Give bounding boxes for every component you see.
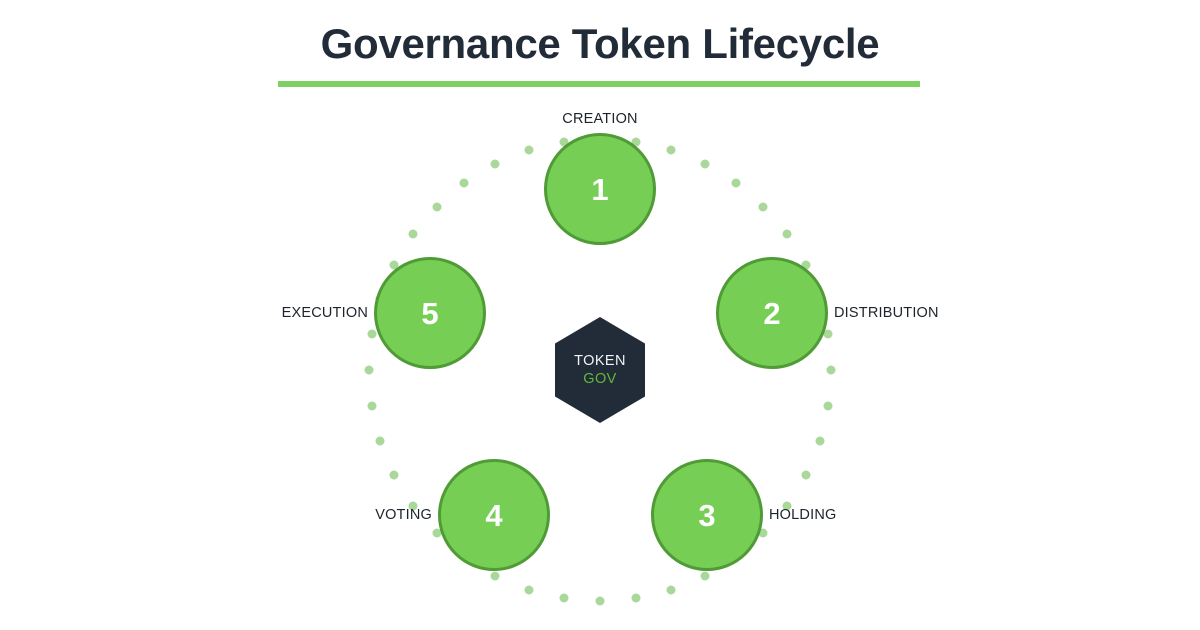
cycle-node-number: 1 — [591, 174, 608, 205]
cycle-node-1[interactable]: 1 — [544, 133, 656, 245]
ring-dot — [376, 437, 385, 446]
ring-dot — [731, 179, 740, 188]
ring-dot — [667, 585, 676, 594]
ring-dot — [367, 329, 376, 338]
cycle-node-label-creation: CREATION — [562, 111, 637, 127]
cycle-node-number: 2 — [763, 298, 780, 329]
ring-dot — [759, 202, 768, 211]
ring-dot — [367, 402, 376, 411]
cycle-node-2[interactable]: 2 — [716, 257, 828, 369]
cycle-node-number: 5 — [421, 298, 438, 329]
ring-dot — [667, 146, 676, 155]
diagram-canvas: Governance Token Lifecycle 1CREATION2DIS… — [0, 0, 1200, 630]
ring-dot — [491, 571, 500, 580]
ring-dot — [491, 160, 500, 169]
cycle-node-number: 3 — [698, 500, 715, 531]
ring-dot — [409, 230, 418, 239]
cycle-node-4[interactable]: 4 — [438, 459, 550, 571]
cycle-node-3[interactable]: 3 — [651, 459, 763, 571]
ring-dot — [824, 402, 833, 411]
ring-dot — [700, 571, 709, 580]
cycle-node-5[interactable]: 5 — [374, 257, 486, 369]
title-block: Governance Token Lifecycle — [0, 18, 1200, 70]
ring-dot — [365, 366, 374, 375]
cycle-node-label-voting: VOTING — [375, 507, 432, 523]
ring-dot — [432, 202, 441, 211]
ring-dot — [700, 160, 709, 169]
cycle-node-number: 4 — [485, 500, 502, 531]
cycle-node-label-distribution: DISTRIBUTION — [834, 305, 939, 321]
ring-dot — [524, 585, 533, 594]
ring-dot — [827, 366, 836, 375]
ring-dot — [460, 179, 469, 188]
ring-dot — [815, 437, 824, 446]
cycle-node-label-execution: EXECUTION — [282, 305, 368, 321]
dotted-ring — [0, 0, 1200, 630]
center-token-hexagon: TOKEN GOV — [555, 317, 645, 423]
hexagon-secondary-label: GOV — [583, 372, 616, 387]
ring-dot — [782, 230, 791, 239]
ring-dot — [596, 597, 605, 606]
page-title: Governance Token Lifecycle — [0, 18, 1200, 70]
ring-dot — [390, 470, 399, 479]
ring-dot — [632, 594, 641, 603]
hexagon-text-group: TOKEN GOV — [555, 317, 645, 423]
ring-dot — [559, 594, 568, 603]
title-underline-bar — [278, 81, 920, 87]
ring-dot — [524, 146, 533, 155]
cycle-node-label-holding: HOLDING — [769, 507, 836, 523]
ring-dot — [801, 470, 810, 479]
hexagon-primary-label: TOKEN — [574, 354, 626, 369]
